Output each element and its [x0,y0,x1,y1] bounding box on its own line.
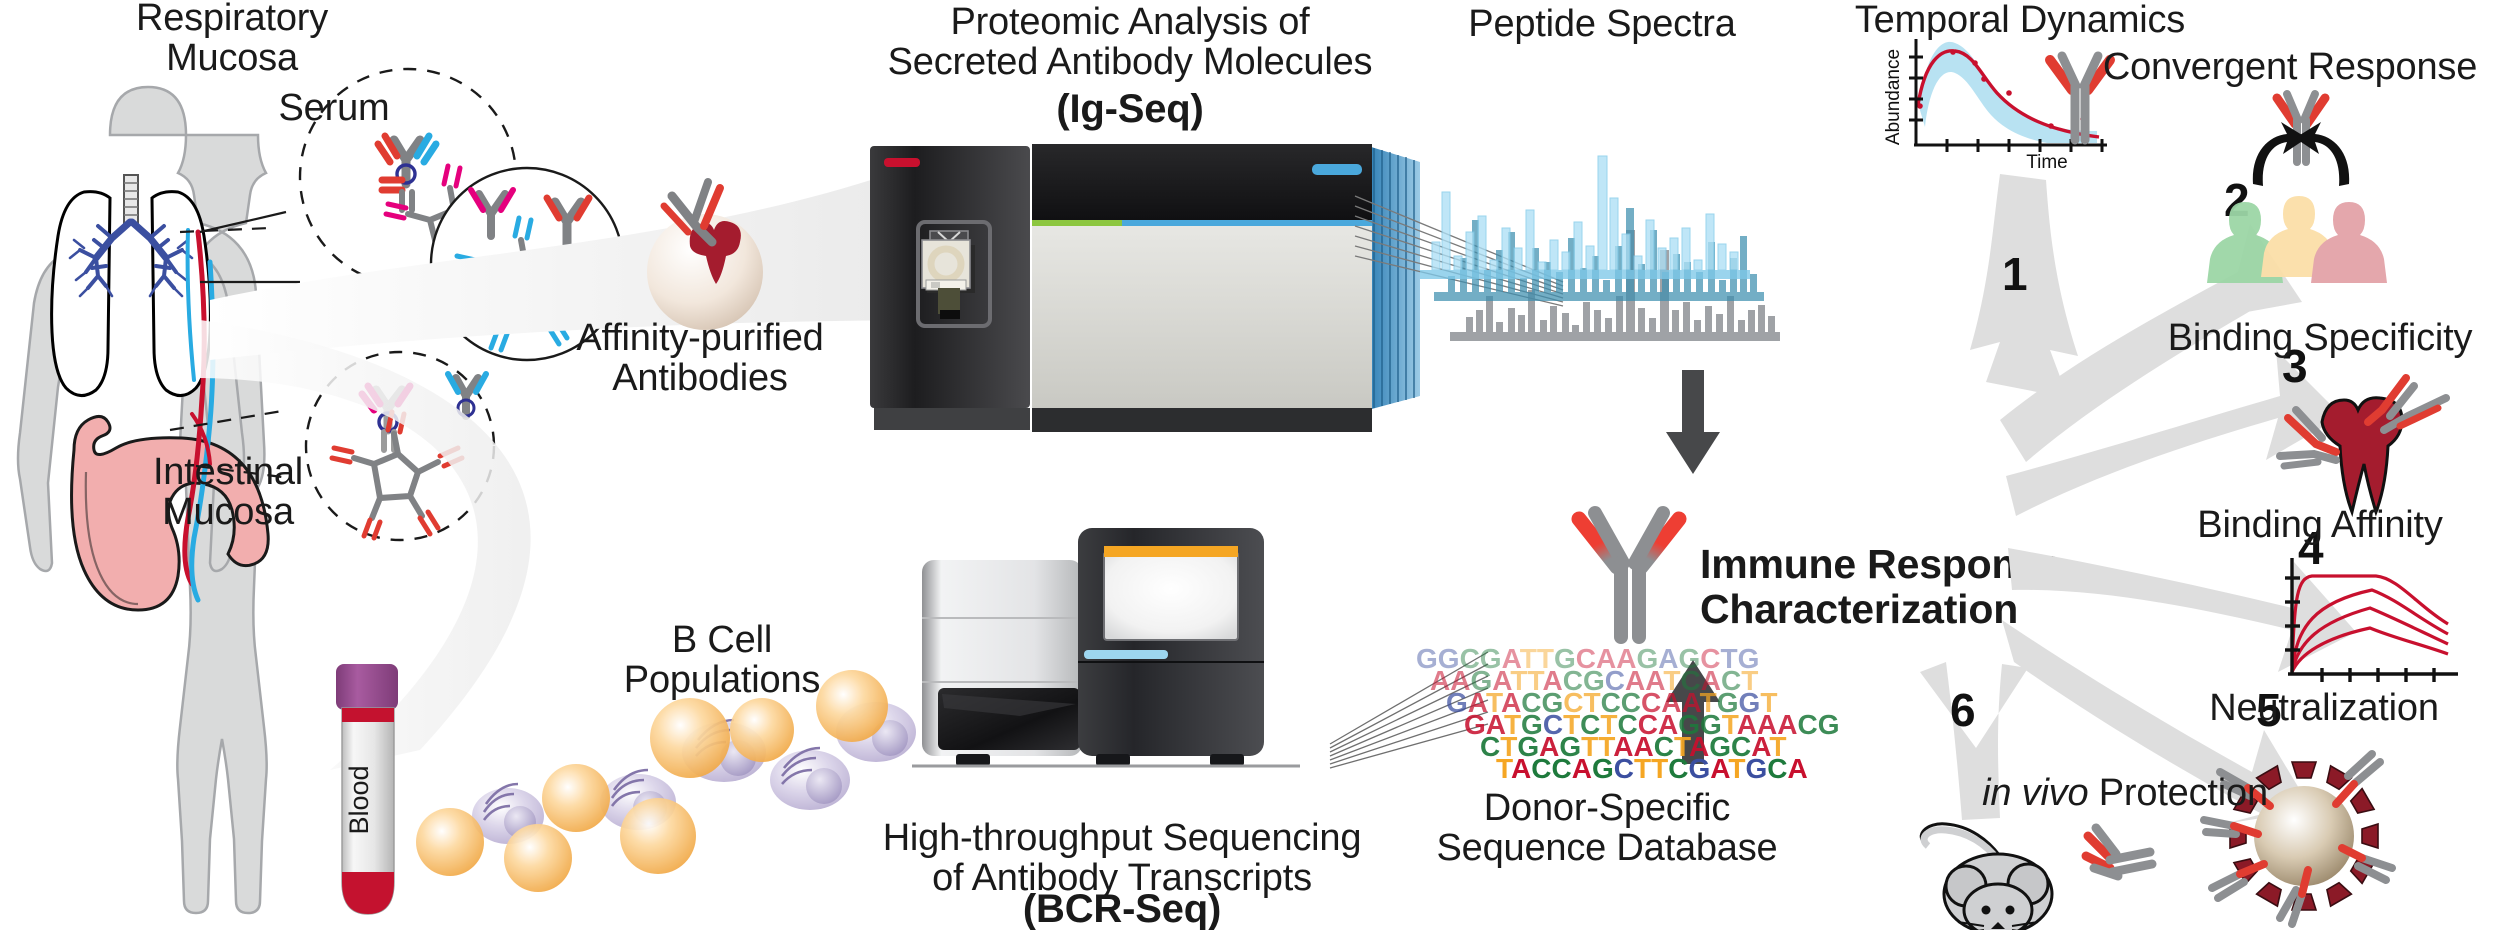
instrument-base-left [874,408,1030,430]
mouse-eye-left [1982,906,1991,915]
label-ig-seq: (Ig-Seq) [930,88,1330,130]
arrow-number-6: 6 [1950,684,1976,736]
protective-antibody-icon [2086,828,2152,876]
convergent-response-graphic [2185,92,2415,292]
label-in-vivo-protection: in vivo Protection [1910,773,2340,813]
b-cell [650,698,730,778]
b-cell [416,808,484,876]
peptide-spectra-chart [1420,80,1840,370]
binding-affinity-chart [2268,548,2464,690]
affinity-purified-bead [620,130,790,320]
label-proteomic-analysis: Proteomic Analysis of Secreted Antibody … [810,2,1450,83]
b-cell [620,798,696,874]
label-neutralization: Neutralization [2114,688,2500,728]
accent-stripe-blue [1122,220,1372,226]
temporal-xlabel: Time [2026,152,2068,173]
figure-canvas: Respiratory Mucosa Serum Intestinal Muco… [0,0,2500,930]
label-protection-rest: Protection [2088,772,2267,814]
sequencer-foot [956,754,990,766]
plasma-cell [770,748,850,810]
sequencer-foot [1096,754,1130,766]
label-in-vivo-italic: in vivo [1982,772,2088,814]
tube-cap [336,664,398,710]
affinity-curves [2292,576,2448,672]
label-respiratory-mucosa: Respiratory Mucosa [82,0,382,79]
label-binding-affinity: Binding Affinity [2100,505,2500,545]
label-blood-tube: Blood [344,765,374,834]
instrument-status-led-blue [1312,164,1362,175]
sequencer-screen [1104,552,1238,640]
temporal-ylabel: Abundance [1883,49,1904,145]
instrument-status-led-red [884,158,920,167]
dna-sequencer [900,498,1360,808]
dna-row-6: TACCAGCTTCGATGCA [1496,753,1808,784]
instrument-upper-shell [1032,144,1372,220]
accent-stripe-green [1032,220,1122,226]
b-cell [504,824,572,892]
label-serum: Serum [234,88,434,128]
binding-specificity-graphic [2260,360,2480,520]
label-bcr-seq: (BCR-Seq) [902,888,1342,930]
label-peptide-spectra: Peptide Spectra [1392,4,1812,44]
in-vivo-mouse-graphic [1910,810,2180,930]
instrument-front-panel [1032,226,1372,408]
label-convergent-response: Convergent Response [2070,47,2500,87]
b-cell [730,698,794,762]
central-antibody-icon [1565,505,1695,655]
instrument-base-right [1032,408,1372,432]
arrow-spectra-to-center [1658,370,1728,480]
spectra-layer-light-blue [1420,156,1750,279]
donor-silhouettes [2207,196,2387,283]
dna-sequence-stack: GGCGATTGCAAGAGCTG AAGATTACGCAATCACT GATA… [1408,640,1818,780]
sequencer-status-led-blue [1084,650,1168,659]
neutralization-graphic [2196,728,2456,928]
label-temporal-dynamics: Temporal Dynamics [1820,0,2220,40]
mouse-eye-right [2006,906,2015,915]
tube-label-stripe [342,708,394,722]
label-b-cell-populations: B Cell Populations [562,620,882,701]
arrow-number-1: 1 [2002,248,2028,300]
label-affinity-purified-antibodies: Affinity-purified Antibodies [540,318,860,399]
sequencer-accent-orange [1104,546,1238,557]
b-cell [542,764,610,832]
label-binding-specificity: Binding Specificity [2100,318,2500,358]
sequencer-foot [1210,754,1244,766]
